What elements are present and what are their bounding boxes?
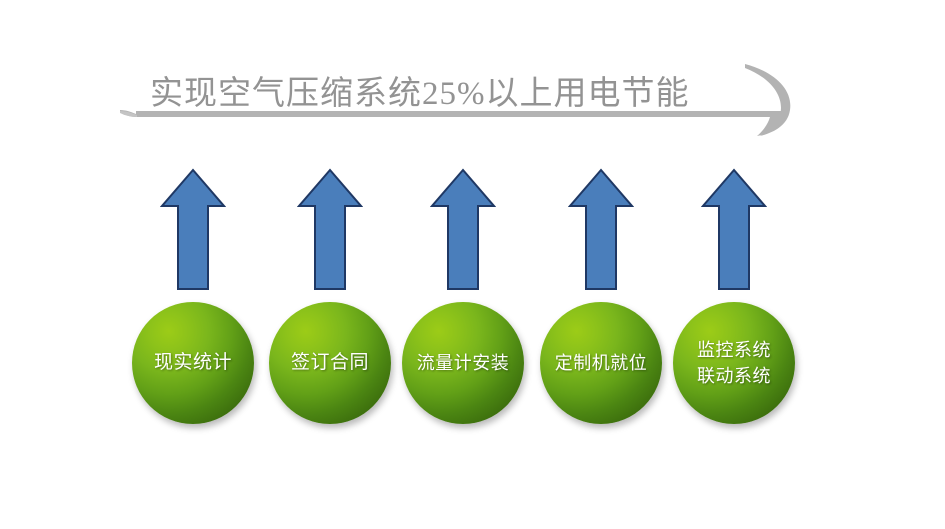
flow-node-label-2: 签订合同	[287, 351, 373, 375]
up-arrow-icon-1	[160, 168, 226, 292]
flow-node-4[interactable]: 定制机就位	[540, 302, 662, 424]
up-arrow-icon-2	[297, 168, 363, 292]
slide-canvas: 实现空气压缩系统25%以上用电节能 现实统计 签订合同 流量计安装 定制机就位 …	[0, 0, 945, 529]
flow-node-label-4: 定制机就位	[551, 351, 652, 375]
title-banner: 实现空气压缩系统25%以上用电节能	[0, 20, 945, 140]
flow-node-label-1: 现实统计	[150, 351, 236, 375]
page-title: 实现空气压缩系统25%以上用电节能	[150, 67, 750, 121]
flow-node-3[interactable]: 流量计安装	[402, 302, 524, 424]
flow-node-label-3: 流量计安装	[413, 351, 514, 375]
up-arrow-icon-3	[430, 168, 496, 292]
up-arrow-icon-5	[701, 168, 767, 292]
flow-node-5[interactable]: 监控系统 联动系统	[673, 302, 795, 424]
up-arrow-icon-4	[568, 168, 634, 292]
flow-node-1[interactable]: 现实统计	[132, 302, 254, 424]
flow-node-2[interactable]: 签订合同	[269, 302, 391, 424]
flow-node-label-5: 监控系统 联动系统	[693, 337, 775, 389]
